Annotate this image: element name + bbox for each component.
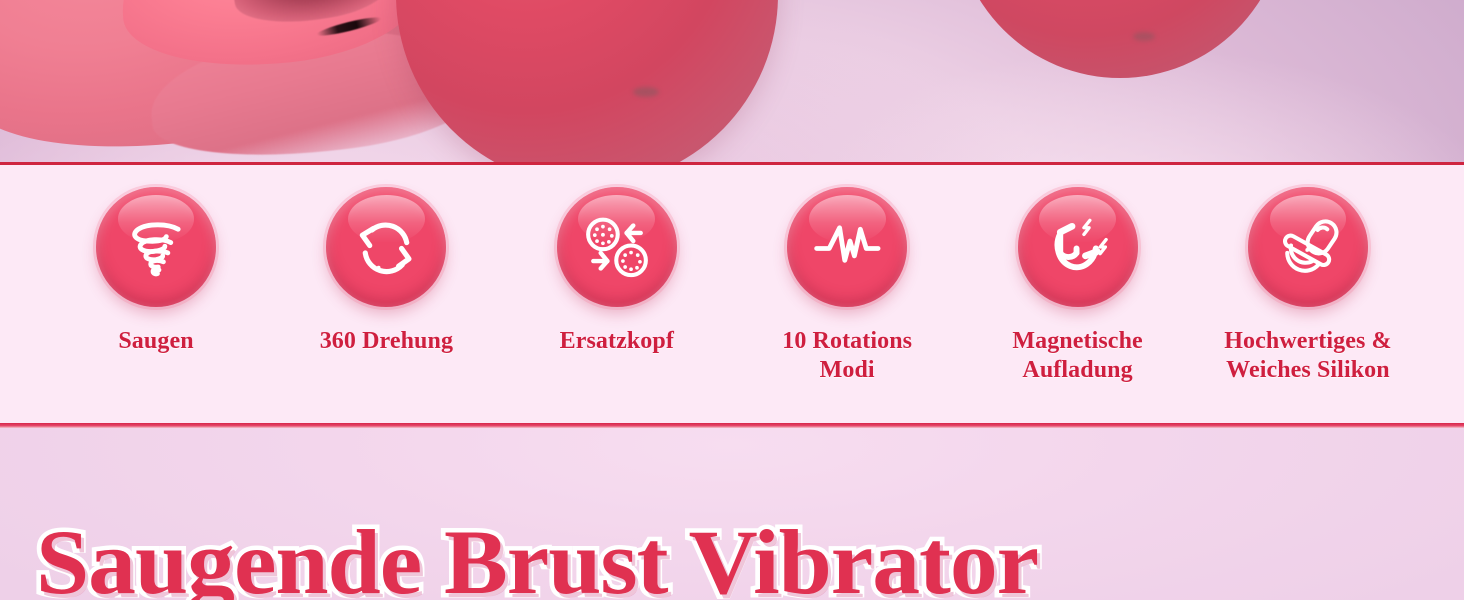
feature-label: Saugen [118,327,193,356]
feature-item-ersatzkopf[interactable]: Ersatzkopf [519,165,715,356]
replacement-head-icon [580,210,654,284]
feature-badge [96,187,216,307]
feature-label: 360 Drehung [320,327,453,356]
feature-badge [1018,187,1138,307]
pacifier-silicone-icon [1271,210,1345,284]
product-photo-banner [0,0,1464,162]
feature-badge [787,187,907,307]
product-headline: Saugende Brust Vibrator [36,516,1038,600]
magnet-charging-icon [1041,210,1115,284]
feature-item-weiches-silikon[interactable]: Hochwertiges & Weiches Silikon [1210,165,1406,386]
feature-item-rotations-modi[interactable]: 10 Rotations Modi [749,165,945,386]
feature-badge [326,187,446,307]
feature-label: Hochwertiges & Weiches Silikon [1224,327,1391,386]
feature-label: Ersatzkopf [560,327,674,356]
headline-band: Saugende Brust Vibrator [0,428,1464,600]
feature-badge [557,187,677,307]
feature-row: Saugen 360 Dre [0,165,1464,423]
waveform-pulse-icon [810,210,884,284]
feature-band: Saugen 360 Dre [0,165,1464,423]
feature-item-magnetische-aufladung[interactable]: Magnetische Aufladung [980,165,1176,386]
tornado-suction-icon [119,210,193,284]
feature-item-360-drehung[interactable]: 360 Drehung [288,165,484,356]
feature-label: Magnetische Aufladung [1012,327,1142,386]
rotation-arrows-icon [349,210,423,284]
feature-badge [1248,187,1368,307]
feature-label: 10 Rotations Modi [782,327,912,386]
product-infographic-page: Saugen 360 Dre [0,0,1464,600]
feature-item-saugen[interactable]: Saugen [58,165,254,356]
